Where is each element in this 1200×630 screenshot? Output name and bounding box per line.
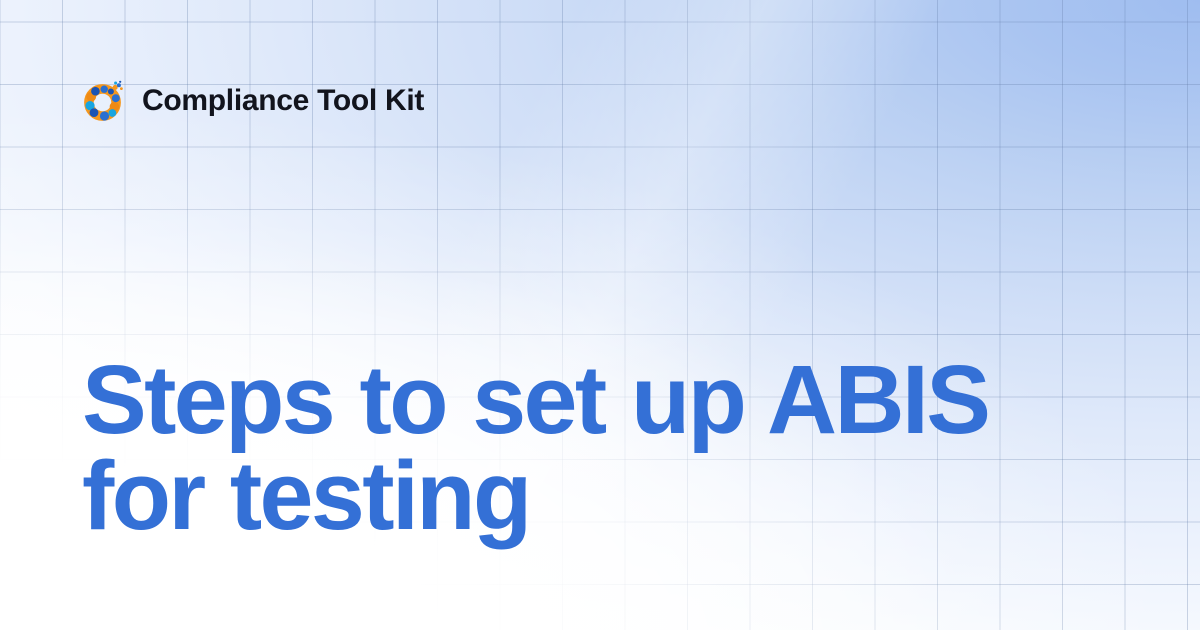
brand-lockup: Compliance Tool Kit xyxy=(82,79,424,123)
brand-name: Compliance Tool Kit xyxy=(142,86,424,116)
page-title-line-2: for testing xyxy=(82,441,530,550)
share-card: Compliance Tool Kit Steps to set up ABIS… xyxy=(0,0,1200,630)
dotted-ring-logo-icon xyxy=(82,79,126,123)
page-title-line-1: Steps to set up ABIS xyxy=(82,345,988,454)
page-title: Steps to set up ABIS for testing xyxy=(82,352,1062,543)
